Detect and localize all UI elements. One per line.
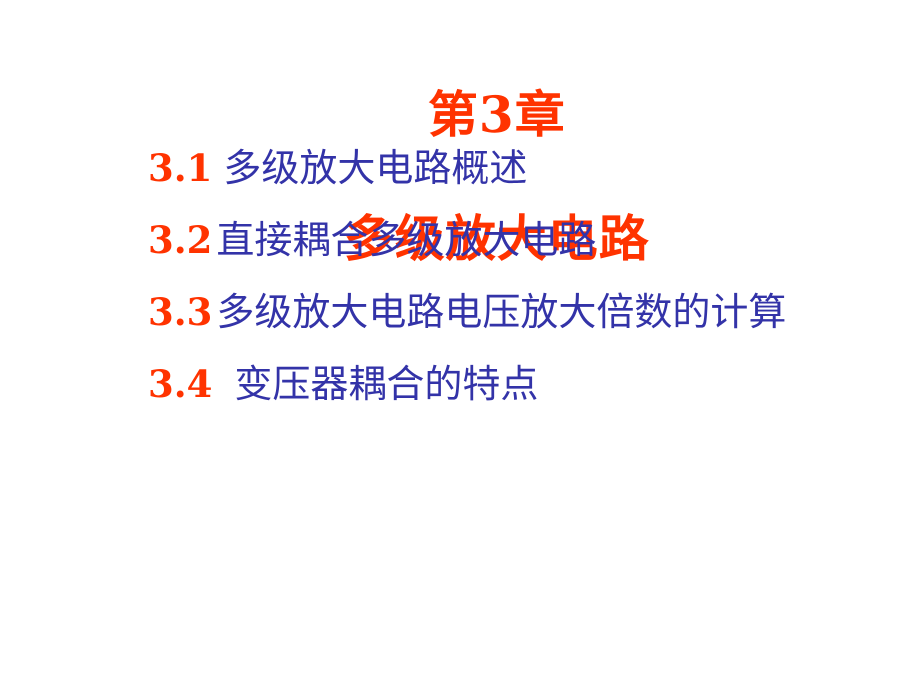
outline-item-number-3-3: 3.3 (148, 292, 212, 332)
outline-item-number-3-2: 3.2 (148, 220, 212, 260)
outline-list: 3.1 多级放大电路概述 3.2 直接耦合多级放大电路 3.3 多级放大电路电压… (148, 148, 888, 436)
presentation-slide: 第3章 多级放大电路 3.1 多级放大电路概述 3.2 直接耦合多级放大电路 3… (0, 0, 920, 690)
list-item[interactable]: 3.2 直接耦合多级放大电路 (148, 220, 888, 292)
list-item[interactable]: 3.1 多级放大电路概述 (148, 148, 888, 220)
title-chapter-prefix: 第3章 (428, 85, 566, 144)
outline-item-label-3-4: 变压器耦合的特点 (234, 364, 538, 404)
outline-item-number-3-1: 3.1 (148, 148, 212, 188)
outline-item-number-3-4: 3.4 (148, 364, 212, 404)
list-item[interactable]: 3.3 多级放大电路电压放大倍数的计算 (148, 292, 888, 364)
outline-item-label-3-2: 直接耦合多级放大电路 (216, 220, 596, 260)
list-item[interactable]: 3.4 变压器耦合的特点 (148, 364, 888, 436)
slide-empty-area (0, 440, 920, 690)
outline-item-label-3-3: 多级放大电路电压放大倍数的计算 (216, 292, 786, 332)
outline-item-label-3-1: 多级放大电路概述 (223, 148, 527, 188)
